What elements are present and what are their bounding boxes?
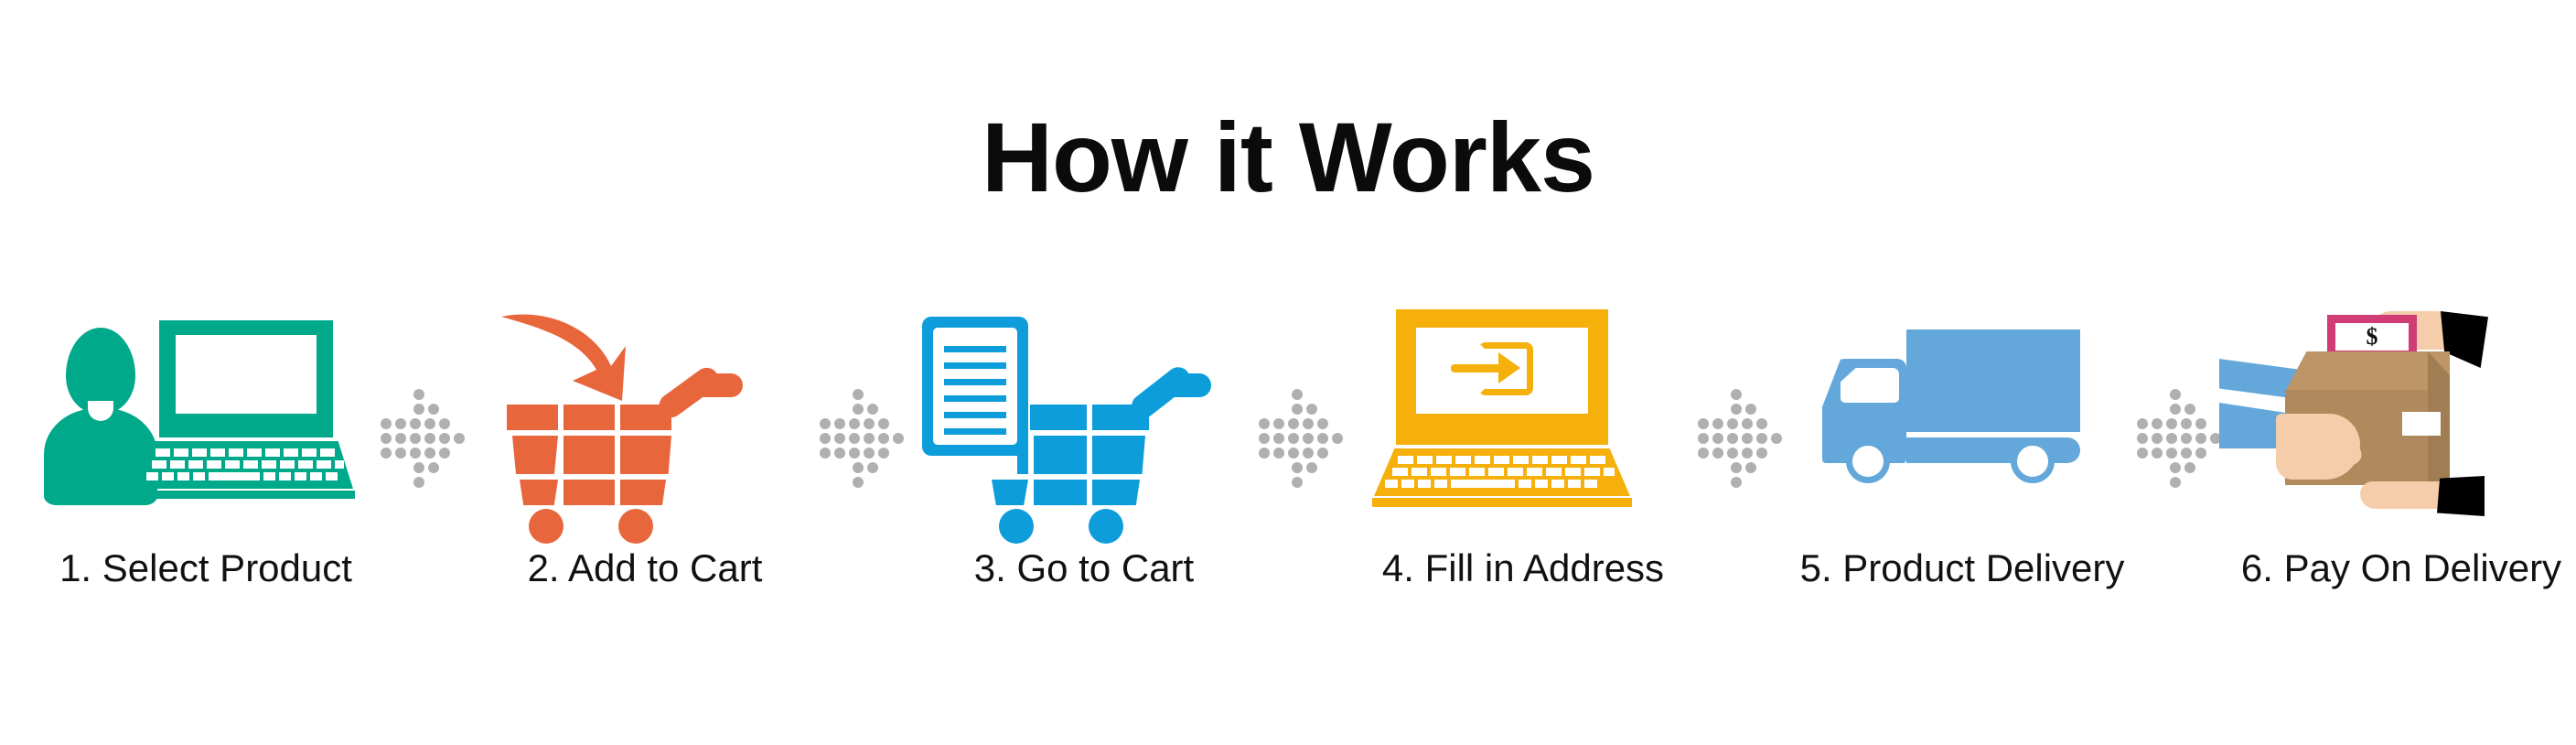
keyboard-row-2: [152, 460, 344, 469]
step-select-product[interactable]: 1. Select Product: [37, 302, 375, 632]
cart-basket-top-2: [1030, 405, 1087, 430]
arrow-dots: [1698, 389, 1789, 460]
keyboard-row-3: [146, 472, 338, 480]
halftone-arrow-right-icon: [2131, 302, 2232, 531]
cart-basket-mid-2: [1034, 436, 1087, 474]
arrow-dots: [381, 389, 472, 460]
keyboard-row-3: [1385, 480, 1597, 488]
document-text-line: [944, 379, 1006, 385]
document-text-line: [944, 395, 1006, 402]
step-product-delivery[interactable]: 5. Product Delivery: [1793, 302, 2131, 632]
arrow-dots: [2137, 389, 2228, 460]
laptop-base-shape: [1372, 498, 1632, 507]
arrow-dots: [820, 389, 911, 460]
halftone-arrow-right-icon: [375, 302, 476, 531]
document-text-line: [944, 412, 1006, 418]
delivery-truck-icon: [1793, 302, 2131, 531]
cart-basket-mid-3: [620, 436, 671, 474]
cart-wheel-left: [529, 509, 563, 544]
step-pay-on-delivery[interactable]: $ 6. Pay On Delivery: [2232, 302, 2571, 632]
step-fill-in-address[interactable]: 4. Fill in Address: [1354, 302, 1692, 632]
step-label: 5. Product Delivery: [1793, 549, 2131, 588]
payer-hand-lower: [2360, 481, 2448, 509]
laptop-base-shape: [137, 491, 355, 499]
step-label: 4. Fill in Address: [1354, 549, 1692, 588]
keyboard-row-1: [1398, 456, 1605, 464]
cart-basket-low-1: [520, 480, 558, 505]
step-go-to-cart[interactable]: 3. Go to Cart: [915, 302, 1253, 632]
payer-cuff-lower: [2437, 476, 2485, 516]
package-label: [2402, 412, 2441, 436]
cart-handle-grip: [692, 373, 743, 397]
document-cart-icon: [915, 302, 1253, 531]
halftone-arrow-right-icon: [814, 302, 915, 531]
laptop-screen-shape: [176, 335, 317, 414]
cart-basket-top-2: [563, 405, 615, 430]
cart-basket-low-2: [563, 480, 615, 505]
cart-arrow-icon: [476, 302, 814, 531]
steps-strip: 1. Select Product: [37, 302, 2539, 632]
laptop-login-icon: [1354, 302, 1692, 531]
truck-cargo-shape: [1906, 329, 2080, 432]
person-laptop-icon: [37, 302, 375, 531]
cart-handle-grip: [1164, 373, 1211, 397]
curved-arrow-icon: [498, 306, 635, 406]
truck-wheel-front: [1846, 439, 1890, 483]
cart-basket-mid-1: [512, 436, 558, 474]
halftone-arrow-right-icon: [1692, 302, 1793, 531]
step-label: 6. Pay On Delivery: [2232, 549, 2571, 588]
cart-basket-mid-1: [1017, 436, 1028, 474]
cart-wheel-left: [999, 509, 1034, 544]
step-label: 1. Select Product: [37, 549, 375, 588]
cart-basket-mid-3: [1092, 436, 1145, 474]
login-arrowhead-icon: [1498, 352, 1520, 383]
keyboard-row-2: [1392, 468, 1615, 476]
keyboard-row-1: [156, 448, 335, 457]
cart-basket-low-1: [992, 480, 1028, 505]
cart-basket-low-2: [1034, 480, 1087, 505]
cart-wheel-right: [618, 509, 653, 544]
arrow-dots: [1259, 389, 1350, 460]
document-text-line: [944, 346, 1006, 352]
package-top-face: [2285, 351, 2450, 392]
cart-basket-top-1: [507, 405, 558, 430]
cart-wheel-right: [1089, 509, 1123, 544]
truck-wheel-rear: [2011, 439, 2055, 483]
halftone-arrow-right-icon: [1253, 302, 1354, 531]
page-title: How it Works: [0, 108, 2576, 207]
step-label: 2. Add to Cart: [476, 549, 814, 588]
document-text-line: [944, 428, 1006, 435]
cart-basket-low-3: [1092, 480, 1140, 505]
cart-basket-mid-2: [563, 436, 615, 474]
document-text-line: [944, 362, 1006, 369]
cart-basket-low-3: [620, 480, 666, 505]
cash-on-delivery-icon: $: [2232, 302, 2571, 531]
step-add-to-cart[interactable]: 2. Add to Cart: [476, 302, 814, 632]
step-label: 3. Go to Cart: [915, 549, 1253, 588]
